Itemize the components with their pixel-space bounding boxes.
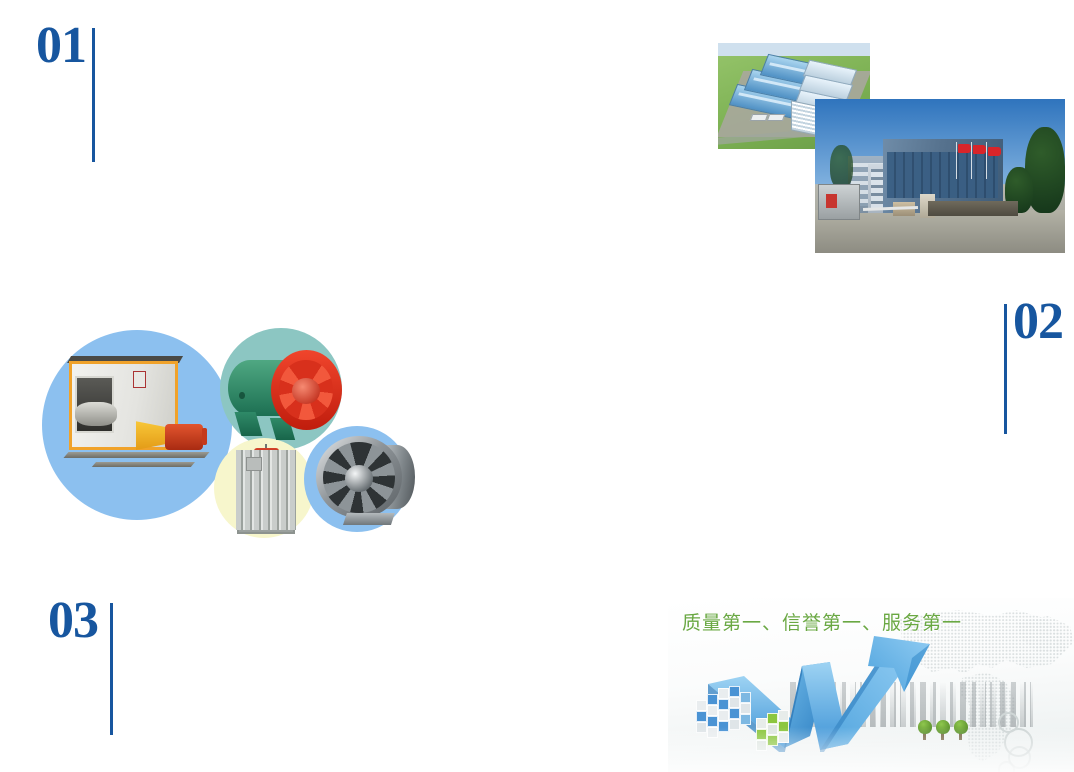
product-showcase-cluster bbox=[30, 308, 430, 560]
red-flag-icon bbox=[973, 145, 986, 154]
section-number-01: 01 bbox=[36, 20, 86, 72]
page-canvas: 01 02 03 bbox=[0, 0, 1074, 772]
product-cabinet-box-fan bbox=[56, 354, 216, 474]
product-axial-fan-metal bbox=[314, 432, 424, 528]
quality-slogan-text: 质量第一、信誉第一、服务第一 bbox=[682, 608, 962, 635]
red-flag-icon bbox=[988, 147, 1001, 156]
photo-wall bbox=[928, 201, 1018, 216]
quality-slogan-banner: 质量第一、信誉第一、服务第一 bbox=[668, 598, 1074, 772]
product-fire-damper bbox=[230, 444, 302, 536]
photo-gatehouse bbox=[818, 184, 860, 220]
section-number-03: 03 bbox=[48, 595, 98, 647]
office-building-photo-image bbox=[815, 99, 1065, 253]
section-number-02: 02 bbox=[1013, 296, 1063, 348]
render-truck bbox=[767, 114, 785, 121]
section-divider-02 bbox=[1004, 304, 1007, 434]
banner-reflection bbox=[668, 727, 1074, 772]
product-axial-fan-green bbox=[226, 344, 344, 444]
red-flag-icon bbox=[958, 144, 971, 153]
section-divider-01 bbox=[92, 28, 95, 162]
photo-tree bbox=[830, 145, 853, 188]
section-divider-03 bbox=[110, 603, 113, 735]
